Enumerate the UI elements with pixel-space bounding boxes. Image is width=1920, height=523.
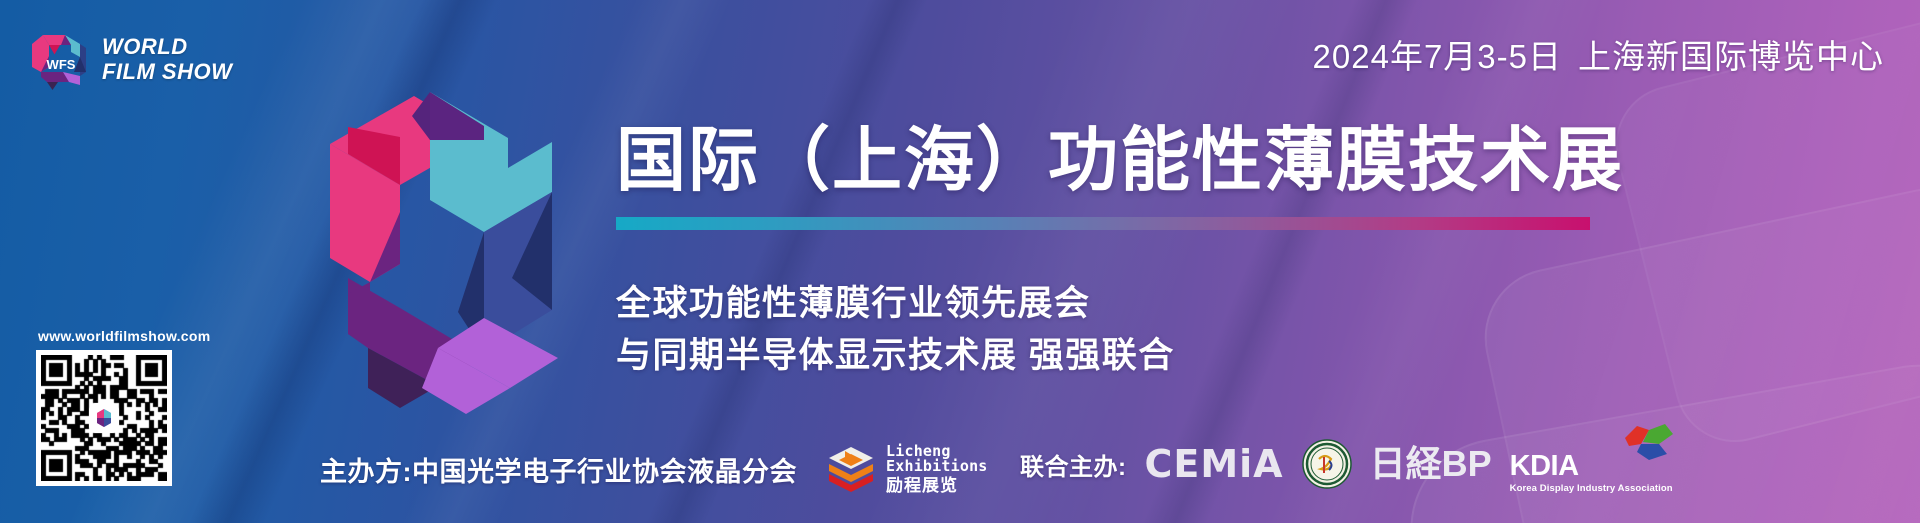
cemia-logo[interactable]: CEMiA (1145, 445, 1284, 483)
coorganizer-label: 联合主办: (1020, 447, 1127, 482)
organizer-label: 主办方:中国光学电子行业协会液晶分会 (320, 450, 797, 489)
exhibition-banner: WFS WORLD FILM SHOW 2024年7月3-5日上海新国际博览中心 (0, 0, 1920, 523)
event-date-venue: 2024年7月3-5日上海新国际博览中心 (1313, 30, 1884, 78)
licheng-text-block: Licheng Exhibitions 励程展览 (886, 444, 988, 494)
subtitle-line-1: 全球功能性薄膜行业领先展会 (616, 278, 1175, 330)
qr-center-brand-icon (89, 403, 119, 433)
hexagon-logo-graphic (252, 82, 576, 418)
event-date-text: 2024年7月3-5日 (1313, 38, 1562, 75)
nikkei-bp-logo[interactable]: 日経BP (1370, 446, 1492, 482)
main-title-block: 国际（上海）功能性薄膜技术展 (616, 122, 1616, 230)
licheng-en-line2: Exhibitions (886, 459, 988, 474)
subtitle-block: 全球功能性薄膜行业领先展会 与同期半导体显示技术展 强强联合 (616, 278, 1175, 382)
kdia-logo[interactable]: KDIA Korea Display Industry Association (1510, 436, 1673, 494)
kdia-full-name: Korea Display Industry Association (1510, 484, 1673, 494)
title-underline-rule (616, 217, 1590, 230)
event-venue-text: 上海新国际博览中心 (1578, 38, 1884, 75)
wfs-mark-text: WFS (47, 57, 76, 72)
wfs-brand-logo[interactable]: WFS WORLD FILM SHOW (28, 26, 232, 94)
subtitle-line-2: 与同期半导体显示技术展 强强联合 (616, 330, 1175, 382)
kdia-mark-icon (1619, 424, 1677, 460)
qr-code-block[interactable]: www.worldfilmshow.com (36, 328, 211, 486)
licheng-exhibitions-logo[interactable]: Licheng Exhibitions 励程展览 (823, 441, 988, 497)
coorganizer-row: 联合主办: CEMiA 日経BP KDIA Korea Display Indu… (1020, 436, 1673, 494)
wfs-wordmark-line1: WORLD (102, 35, 232, 60)
licheng-mark-icon (823, 441, 879, 497)
page-title: 国际（上海）功能性薄膜技术展 (616, 122, 1616, 199)
qr-code-image[interactable] (36, 350, 172, 486)
cpia-seal-icon[interactable] (1302, 439, 1352, 489)
wfs-wordmark: WORLD FILM SHOW (102, 35, 232, 84)
organizer-row: 主办方:中国光学电子行业协会液晶分会 Licheng Exhibitions 励… (320, 441, 988, 497)
wfs-hexagon-icon: WFS (28, 26, 90, 94)
wfs-wordmark-line2: FILM SHOW (102, 60, 232, 85)
licheng-cn-name: 励程展览 (886, 477, 988, 494)
website-url-text: www.worldfilmshow.com (36, 328, 211, 344)
